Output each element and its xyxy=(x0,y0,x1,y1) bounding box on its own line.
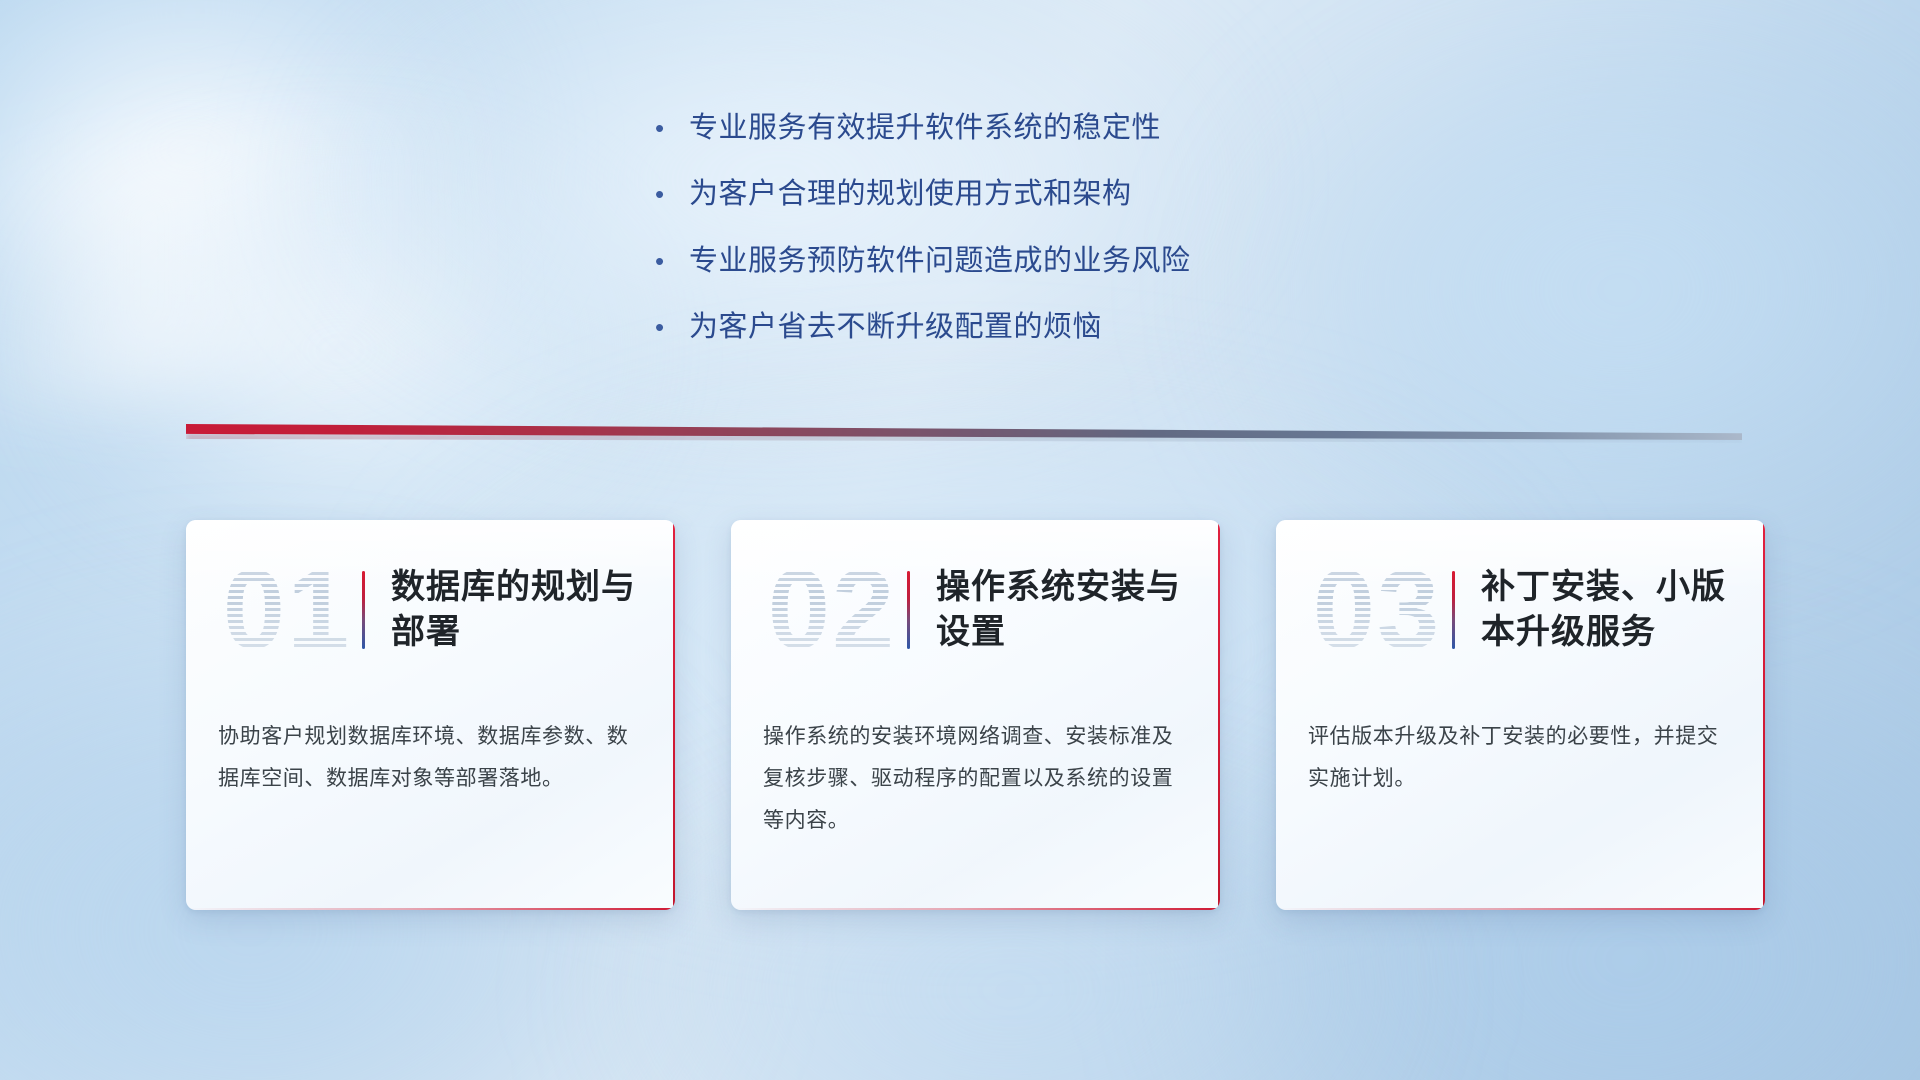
benefits-bullet-list: • 专业服务有效提升软件系统的稳定性 • 为客户合理的规划使用方式和架构 • 专… xyxy=(655,110,1475,375)
card-bottom-accent xyxy=(186,908,675,910)
list-item: • 为客户合理的规划使用方式和架构 xyxy=(655,176,1475,212)
section-divider xyxy=(186,424,1742,440)
bullet-text: 为客户合理的规划使用方式和架构 xyxy=(689,176,1132,212)
card-accent-bar xyxy=(362,571,365,649)
card-bottom-accent xyxy=(731,908,1220,910)
bullet-text: 专业服务有效提升软件系统的稳定性 xyxy=(689,110,1161,146)
list-item: • 为客户省去不断升级配置的烦恼 xyxy=(655,309,1475,345)
list-item: • 专业服务预防软件问题造成的业务风险 xyxy=(655,243,1475,279)
card-number-text: 01 xyxy=(223,547,352,672)
service-card[interactable]: 01 数据库的规划与部署 协助客户规划数据库环境、数据库参数、数据库空间、数据库… xyxy=(186,520,675,910)
card-number-text: 03 xyxy=(1313,547,1442,672)
slide: • 专业服务有效提升软件系统的稳定性 • 为客户合理的规划使用方式和架构 • 专… xyxy=(0,0,1920,1080)
card-bottom-accent xyxy=(1276,908,1765,910)
bullet-text: 专业服务预防软件问题造成的业务风险 xyxy=(689,243,1191,279)
card-title: 数据库的规划与部署 xyxy=(391,565,675,655)
service-card[interactable]: 02 操作系统安装与设置 操作系统的安装环境网络调查、安装标准及复核步骤、驱动程… xyxy=(731,520,1220,910)
card-body-text: 评估版本升级及补丁安装的必要性，并提交实施计划。 xyxy=(1308,716,1735,800)
bullet-dot-icon: • xyxy=(655,314,689,340)
card-body-text: 操作系统的安装环境网络调查、安装标准及复核步骤、驱动程序的配置以及系统的设置等内… xyxy=(763,716,1190,842)
card-number-text: 02 xyxy=(768,547,897,672)
card-accent-bar xyxy=(1452,571,1455,649)
card-title: 补丁安装、小版本升级服务 xyxy=(1481,565,1765,655)
card-body-text: 协助客户规划数据库环境、数据库参数、数据库空间、数据库对象等部署落地。 xyxy=(218,716,645,800)
card-number-watermark: 01 xyxy=(212,554,362,666)
card-number-watermark: 02 xyxy=(757,554,907,666)
card-number-watermark: 03 xyxy=(1302,554,1452,666)
bullet-dot-icon: • xyxy=(655,181,689,207)
bullet-dot-icon: • xyxy=(655,115,689,141)
service-card-group: 01 数据库的规划与部署 协助客户规划数据库环境、数据库参数、数据库空间、数据库… xyxy=(186,520,1765,910)
service-card[interactable]: 03 补丁安装、小版本升级服务 评估版本升级及补丁安装的必要性，并提交实施计划。 xyxy=(1276,520,1765,910)
bullet-text: 为客户省去不断升级配置的烦恼 xyxy=(689,309,1102,345)
bullet-dot-icon: • xyxy=(655,248,689,274)
card-title: 操作系统安装与设置 xyxy=(936,565,1220,655)
card-header: 02 操作系统安装与设置 xyxy=(731,520,1220,700)
card-header: 03 补丁安装、小版本升级服务 xyxy=(1276,520,1765,700)
card-accent-bar xyxy=(907,571,910,649)
card-header: 01 数据库的规划与部署 xyxy=(186,520,675,700)
list-item: • 专业服务有效提升软件系统的稳定性 xyxy=(655,110,1475,146)
